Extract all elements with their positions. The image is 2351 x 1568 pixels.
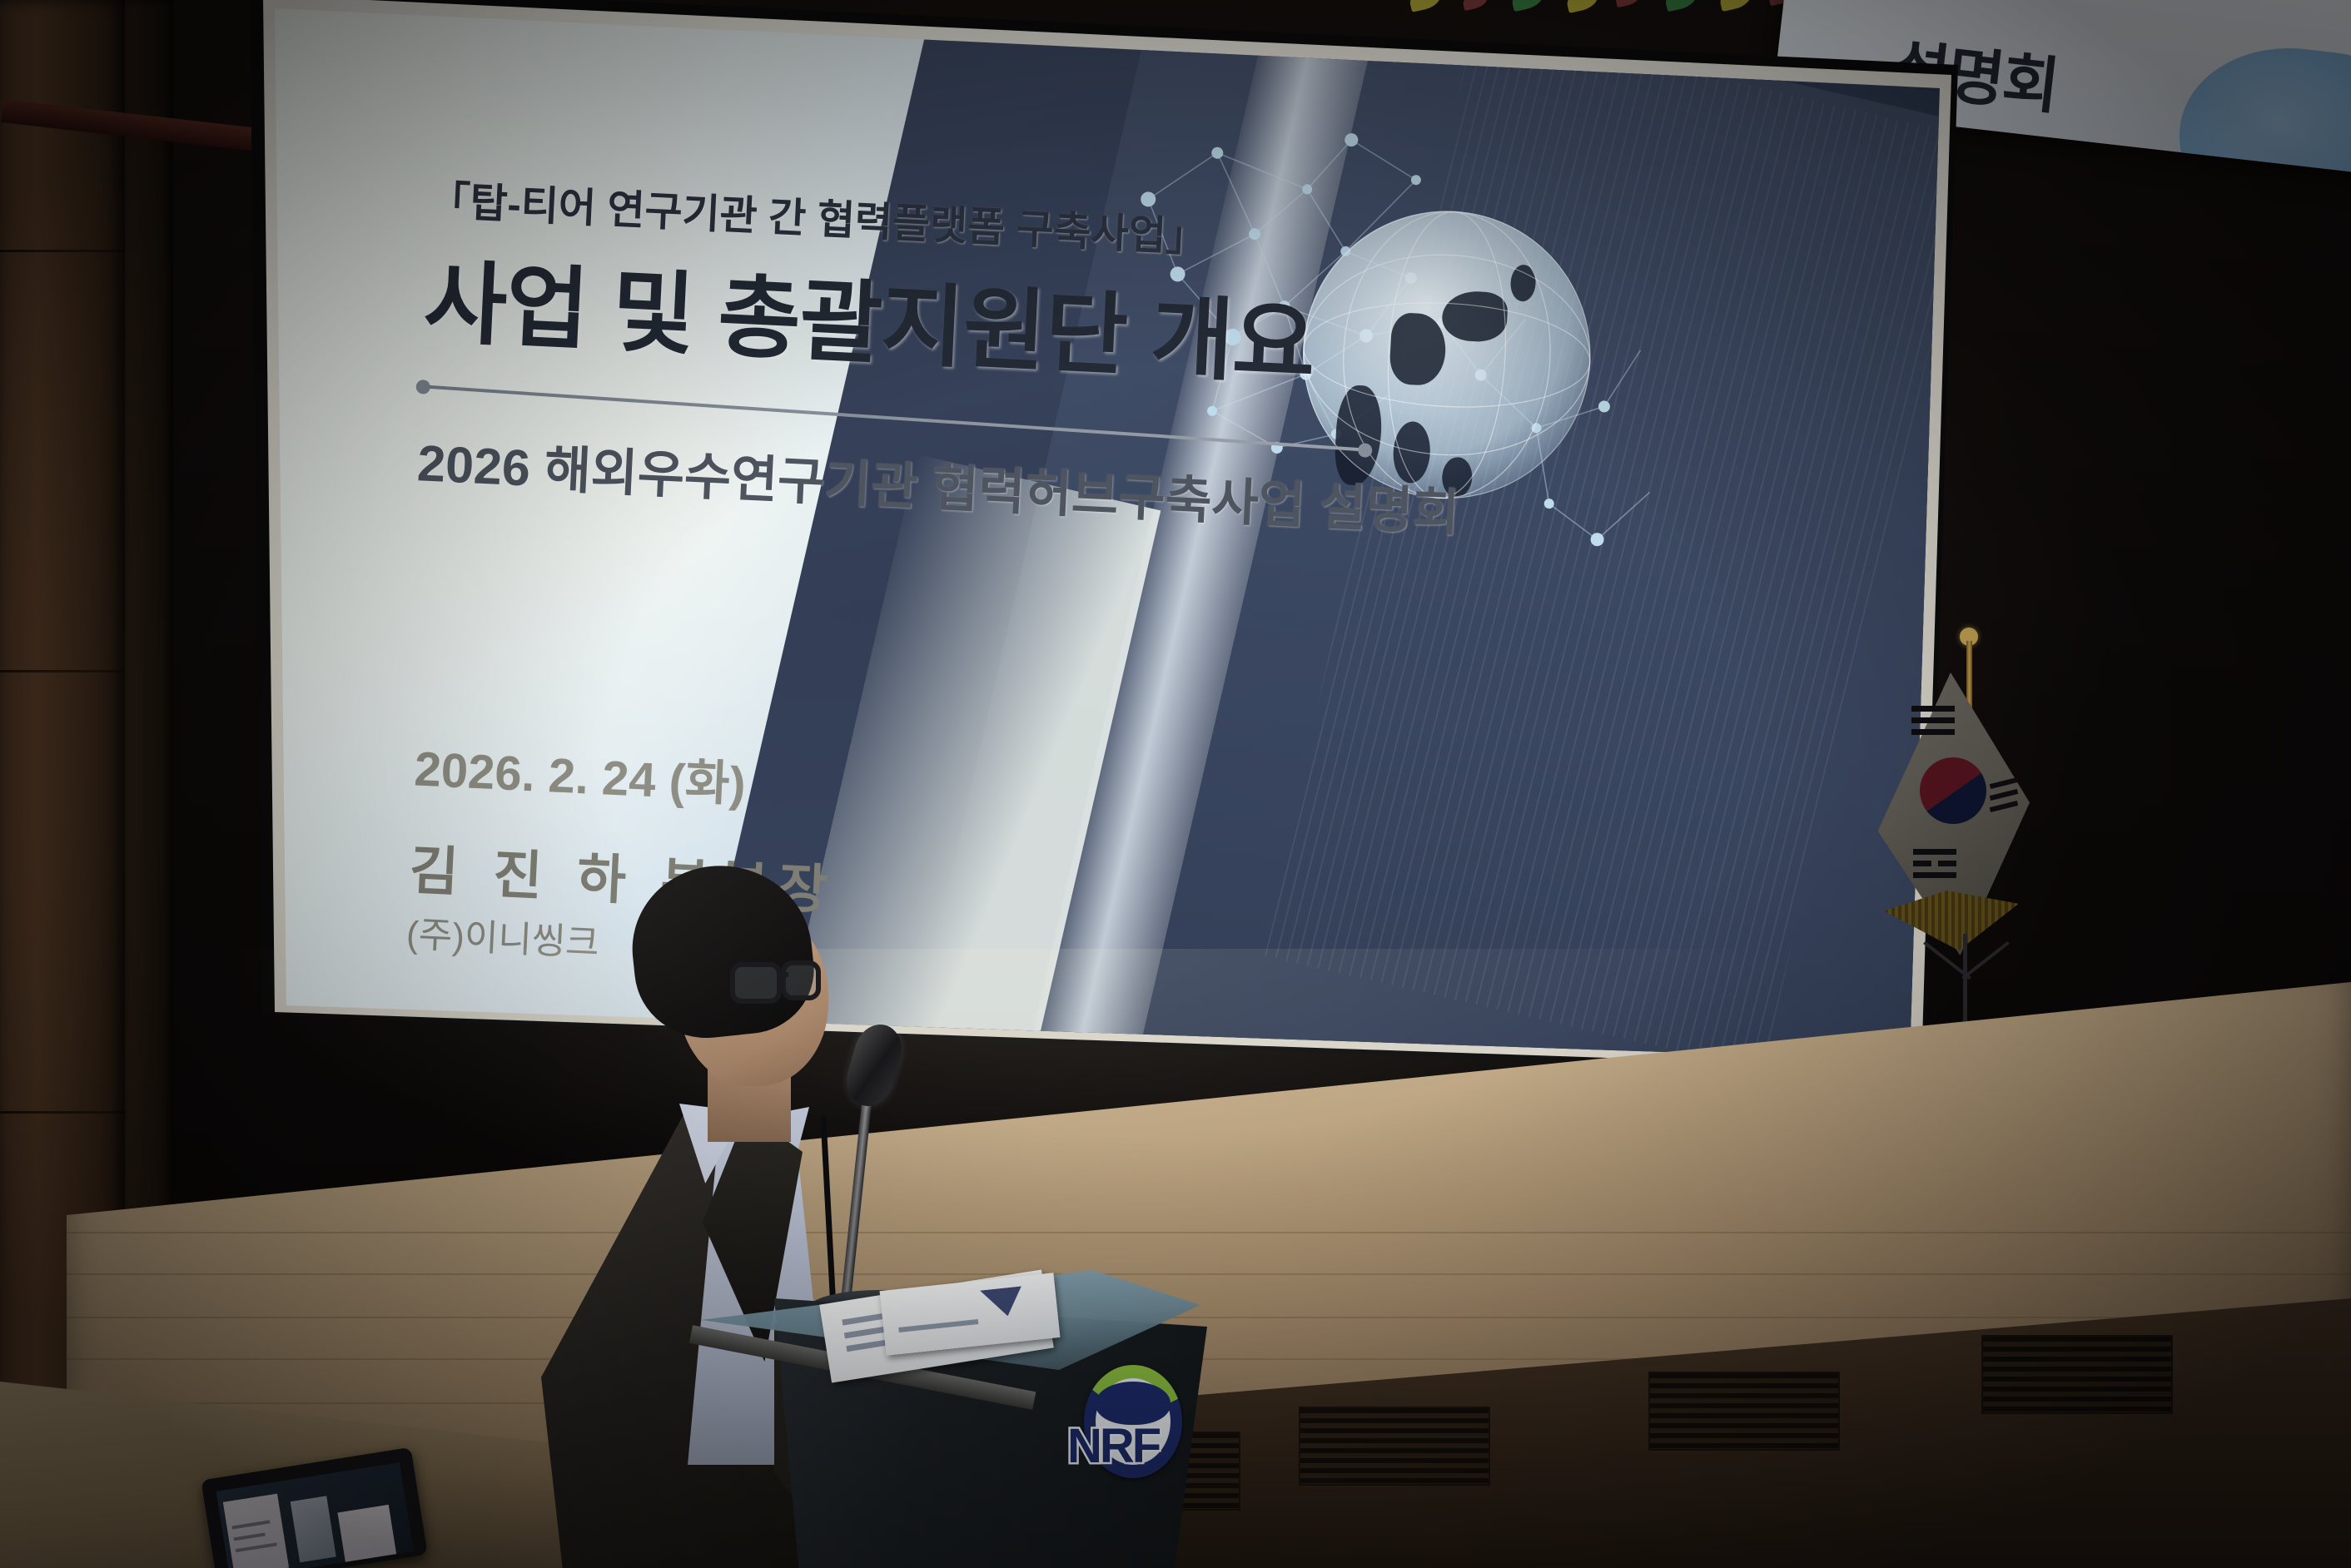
microphone-head: [840, 1019, 907, 1112]
eyeglasses-icon: [781, 960, 821, 1000]
speaker-hair: [624, 856, 820, 1045]
auditorium-scene: 제6층 설명회: [0, 0, 2351, 1568]
korean-national-flag: [1865, 641, 2065, 1032]
slide-subtitle: 2026 해외우수연구기관 협력허브구축사업 설명회: [416, 421, 1462, 545]
lectern-podium: NRF: [691, 1248, 1240, 1568]
stage-vent-grille: [1981, 1335, 2173, 1414]
flag-stand: [1911, 934, 2020, 1021]
eyeglasses-bridge: [777, 972, 788, 977]
nrf-logo-text: NRF: [1067, 1418, 1159, 1474]
slide-date: 2026. 2. 24 (화): [413, 729, 748, 815]
stage-vent-grille: [1299, 1407, 1490, 1486]
taeguk-symbol: [1920, 757, 1986, 824]
stage-vent-grille: [1648, 1372, 1840, 1451]
eyeglasses-icon: [730, 962, 782, 1004]
nrf-logo: NRF: [1067, 1365, 1184, 1490]
